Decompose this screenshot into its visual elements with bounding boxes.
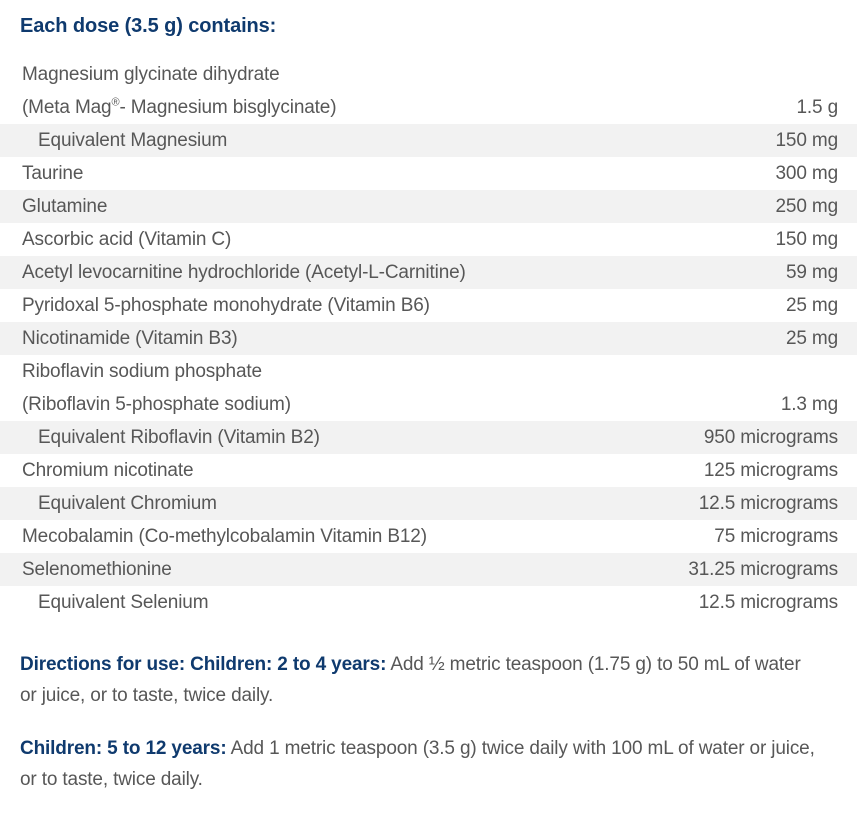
ingredient-row: Mecobalamin (Co-methylcobalamin Vitamin … (0, 520, 857, 553)
directions-lead-in: Children: 5 to 12 years: (20, 738, 227, 759)
ingredient-row: Equivalent Magnesium150 mg (0, 124, 857, 157)
ingredient-amount: 150 mg (776, 124, 857, 157)
ingredient-amount: 250 mg (776, 190, 857, 223)
ingredient-name: Riboflavin sodium phosphate (Riboflavin … (0, 355, 781, 421)
ingredient-name: Chromium nicotinate (0, 454, 704, 487)
ingredient-row: Riboflavin sodium phosphate (Riboflavin … (0, 355, 857, 421)
ingredient-name: Glutamine (0, 190, 776, 223)
ingredient-name: Magnesium glycinate dihydrate (Meta Mag®… (0, 58, 796, 124)
ingredient-name: Acetyl levocarnitine hydrochloride (Acet… (0, 256, 786, 289)
supplement-facts-panel: Each dose (3.5 g) contains: Magnesium gl… (0, 0, 857, 816)
ingredient-amount: 59 mg (786, 256, 857, 289)
ingredient-row: Glutamine250 mg (0, 190, 857, 223)
ingredient-name: Equivalent Magnesium (0, 124, 776, 157)
ingredient-row: Taurine300 mg (0, 157, 857, 190)
ingredient-name: Nicotinamide (Vitamin B3) (0, 322, 786, 355)
ingredient-name: Taurine (0, 157, 776, 190)
ingredient-name: Equivalent Riboflavin (Vitamin B2) (0, 421, 704, 454)
ingredient-row: Nicotinamide (Vitamin B3)25 mg (0, 322, 857, 355)
dose-heading: Each dose (3.5 g) contains: (0, 0, 857, 36)
ingredient-name: Ascorbic acid (Vitamin C) (0, 223, 776, 256)
ingredient-row: Equivalent Selenium12.5 micrograms (0, 586, 857, 619)
ingredient-name: Pyridoxal 5-phosphate monohydrate (Vitam… (0, 289, 786, 322)
ingredient-amount: 75 micrograms (714, 520, 857, 553)
ingredient-row: Pyridoxal 5-phosphate monohydrate (Vitam… (0, 289, 857, 322)
ingredient-row: Magnesium glycinate dihydrate (Meta Mag®… (0, 58, 857, 124)
directions-section: Directions for use: Children: 2 to 4 yea… (0, 649, 857, 795)
ingredient-amount: 31.25 micrograms (688, 553, 857, 586)
ingredient-amount: 150 mg (776, 223, 857, 256)
ingredient-name: Equivalent Selenium (0, 586, 699, 619)
ingredient-amount: 25 mg (786, 322, 857, 355)
ingredient-amount: 25 mg (786, 289, 857, 322)
directions-lead-in: Directions for use: Children: 2 to 4 yea… (20, 654, 386, 675)
ingredient-name: Mecobalamin (Co-methylcobalamin Vitamin … (0, 520, 714, 553)
directions-paragraph: Children: 5 to 12 years: Add 1 metric te… (20, 733, 820, 795)
ingredient-amount: 12.5 micrograms (699, 487, 857, 520)
ingredient-name: Selenomethionine (0, 553, 688, 586)
ingredient-amount: 12.5 micrograms (699, 586, 857, 619)
ingredient-amount: 950 micrograms (704, 421, 857, 454)
ingredient-row: Equivalent Riboflavin (Vitamin B2)950 mi… (0, 421, 857, 454)
ingredient-amount: 1.3 mg (781, 388, 857, 421)
ingredient-row: Selenomethionine31.25 micrograms (0, 553, 857, 586)
directions-paragraph: Directions for use: Children: 2 to 4 yea… (20, 649, 820, 711)
ingredient-amount: 1.5 g (796, 91, 857, 124)
ingredient-row: Chromium nicotinate125 micrograms (0, 454, 857, 487)
ingredient-row: Ascorbic acid (Vitamin C)150 mg (0, 223, 857, 256)
ingredient-name: Equivalent Chromium (0, 487, 699, 520)
ingredient-row: Equivalent Chromium12.5 micrograms (0, 487, 857, 520)
registered-trademark-icon: ® (111, 97, 119, 109)
ingredient-amount: 300 mg (776, 157, 857, 190)
ingredient-table: Magnesium glycinate dihydrate (Meta Mag®… (0, 58, 857, 619)
ingredient-row: Acetyl levocarnitine hydrochloride (Acet… (0, 256, 857, 289)
ingredient-amount: 125 micrograms (704, 454, 857, 487)
